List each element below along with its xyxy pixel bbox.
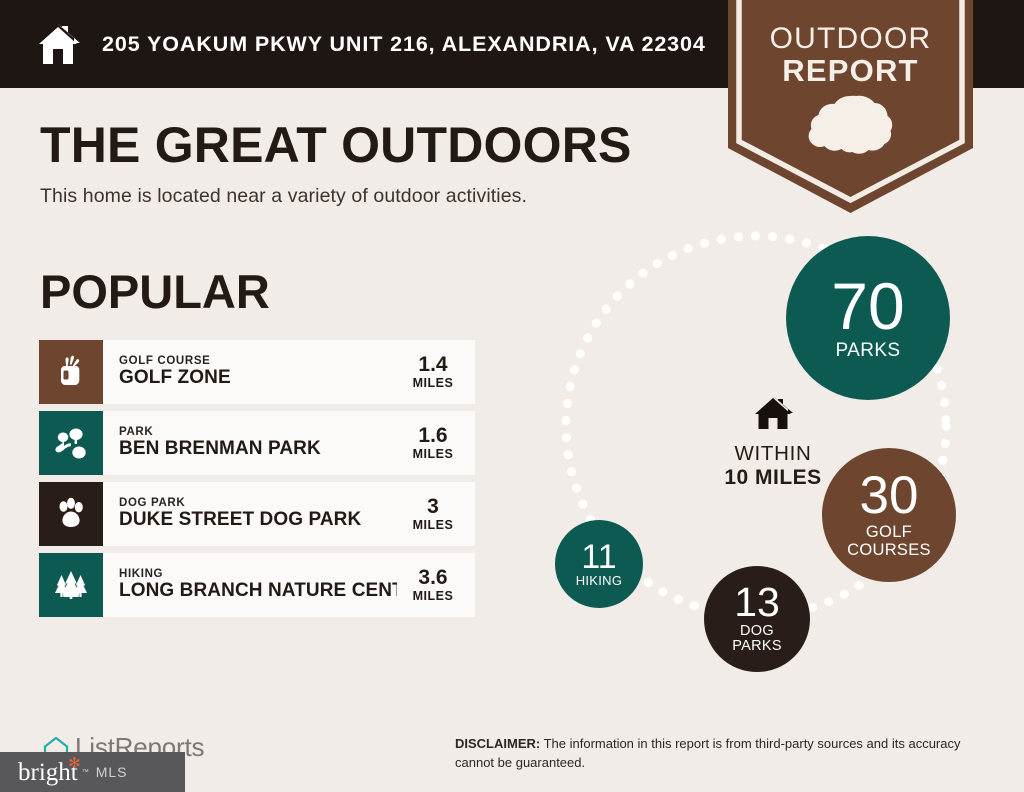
list-item-name: DUKE STREET DOG PARK [119, 510, 397, 531]
list-item-category: PARK [119, 426, 397, 439]
distance-value: 3 [427, 496, 439, 518]
bubble-dog-value: 13 [734, 583, 780, 622]
distance-value: 1.6 [418, 425, 447, 447]
home-icon [34, 20, 82, 68]
pine-trees-icon [39, 553, 103, 617]
list-item-text: PARK BEN BRENMAN PARK [103, 411, 397, 475]
park-tree-icon [39, 411, 103, 475]
bubble-dog-label: DOG PARKS [732, 624, 782, 654]
list-item[interactable]: HIKING LONG BRANCH NATURE CENTER 3.6 MIL… [39, 553, 475, 617]
bubble-golf-label-line2: COURSES [847, 541, 931, 559]
bubble-dog-parks[interactable]: 13 DOG PARKS [704, 566, 810, 672]
bubble-golf-label: GOLF COURSES [847, 524, 931, 559]
list-item-name: GOLF ZONE [119, 368, 397, 389]
bubble-parks-label: PARKS [835, 341, 900, 361]
home-icon [752, 394, 794, 432]
bubble-golf-label-line1: GOLF [866, 523, 912, 541]
list-item[interactable]: DOG PARK DUKE STREET DOG PARK 3 MILES [39, 482, 475, 546]
bright-mls-watermark: bright✻ ™ MLS [0, 752, 185, 792]
list-item-distance: 1.4 MILES [397, 340, 475, 404]
list-item[interactable]: PARK BEN BRENMAN PARK 1.6 MILES [39, 411, 475, 475]
list-item-distance: 3.6 MILES [397, 553, 475, 617]
watermark-star-icon: ✻ [68, 757, 81, 772]
list-item-text: HIKING LONG BRANCH NATURE CENTER [103, 553, 397, 617]
distance-unit: MILES [413, 447, 454, 461]
bubble-parks-value: 70 [831, 275, 904, 338]
popular-list: GOLF COURSE GOLF ZONE 1.4 MILES PARK BEN… [39, 340, 475, 624]
bubble-dog-label-line1: DOG [740, 623, 774, 639]
outdoor-counts-diagram: 70 PARKS 30 GOLF COURSES 13 DOG PARKS 11… [520, 228, 1024, 668]
distance-value: 3.6 [418, 567, 447, 589]
distance-value: 1.4 [418, 354, 447, 376]
badge-shield-shape [728, 0, 973, 213]
list-item-text: GOLF COURSE GOLF ZONE [103, 340, 397, 404]
bubble-parks[interactable]: 70 PARKS [786, 236, 950, 400]
bubble-hiking[interactable]: 11 HIKING [555, 520, 643, 608]
center-line-1: WITHIN [663, 442, 883, 466]
list-item-category: HIKING [119, 568, 397, 581]
list-item-text: DOG PARK DUKE STREET DOG PARK [103, 482, 397, 546]
list-item[interactable]: GOLF COURSE GOLF ZONE 1.4 MILES [39, 340, 475, 404]
section-title-popular: POPULAR [40, 268, 270, 315]
watermark-suffix: MLS [96, 764, 128, 780]
list-item-category: GOLF COURSE [119, 355, 397, 368]
distance-unit: MILES [413, 589, 454, 603]
page-subtitle: This home is located near a variety of o… [40, 185, 632, 208]
center-line-2: 10 MILES [663, 466, 883, 490]
watermark-brand: bright✻ [18, 760, 78, 785]
golf-bag-icon [39, 340, 103, 404]
property-address: 205 YOAKUM PKWY UNIT 216, ALEXANDRIA, VA… [102, 32, 706, 57]
bubble-hiking-value: 11 [581, 541, 616, 573]
bubble-hiking-label: HIKING [576, 574, 623, 588]
watermark-tm: ™ [82, 769, 89, 776]
list-item-category: DOG PARK [119, 497, 397, 510]
paw-print-icon [39, 482, 103, 546]
disclaimer-label: DISCLAIMER: [455, 736, 540, 751]
distance-unit: MILES [413, 518, 454, 532]
list-item-name: LONG BRANCH NATURE CENTER [119, 581, 397, 602]
title-block: THE GREAT OUTDOORS This home is located … [40, 120, 632, 208]
bubble-dog-label-line2: PARKS [732, 638, 782, 654]
disclaimer: DISCLAIMER: The information in this repo… [455, 735, 1000, 773]
list-item-distance: 1.6 MILES [397, 411, 475, 475]
list-item-distance: 3 MILES [397, 482, 475, 546]
outdoor-report-badge: OUTDOOR REPORT [728, 0, 973, 213]
diagram-center-label: WITHIN 10 MILES [663, 394, 883, 490]
distance-unit: MILES [413, 376, 454, 390]
page-title: THE GREAT OUTDOORS [40, 120, 632, 170]
list-item-name: BEN BRENMAN PARK [119, 439, 397, 460]
